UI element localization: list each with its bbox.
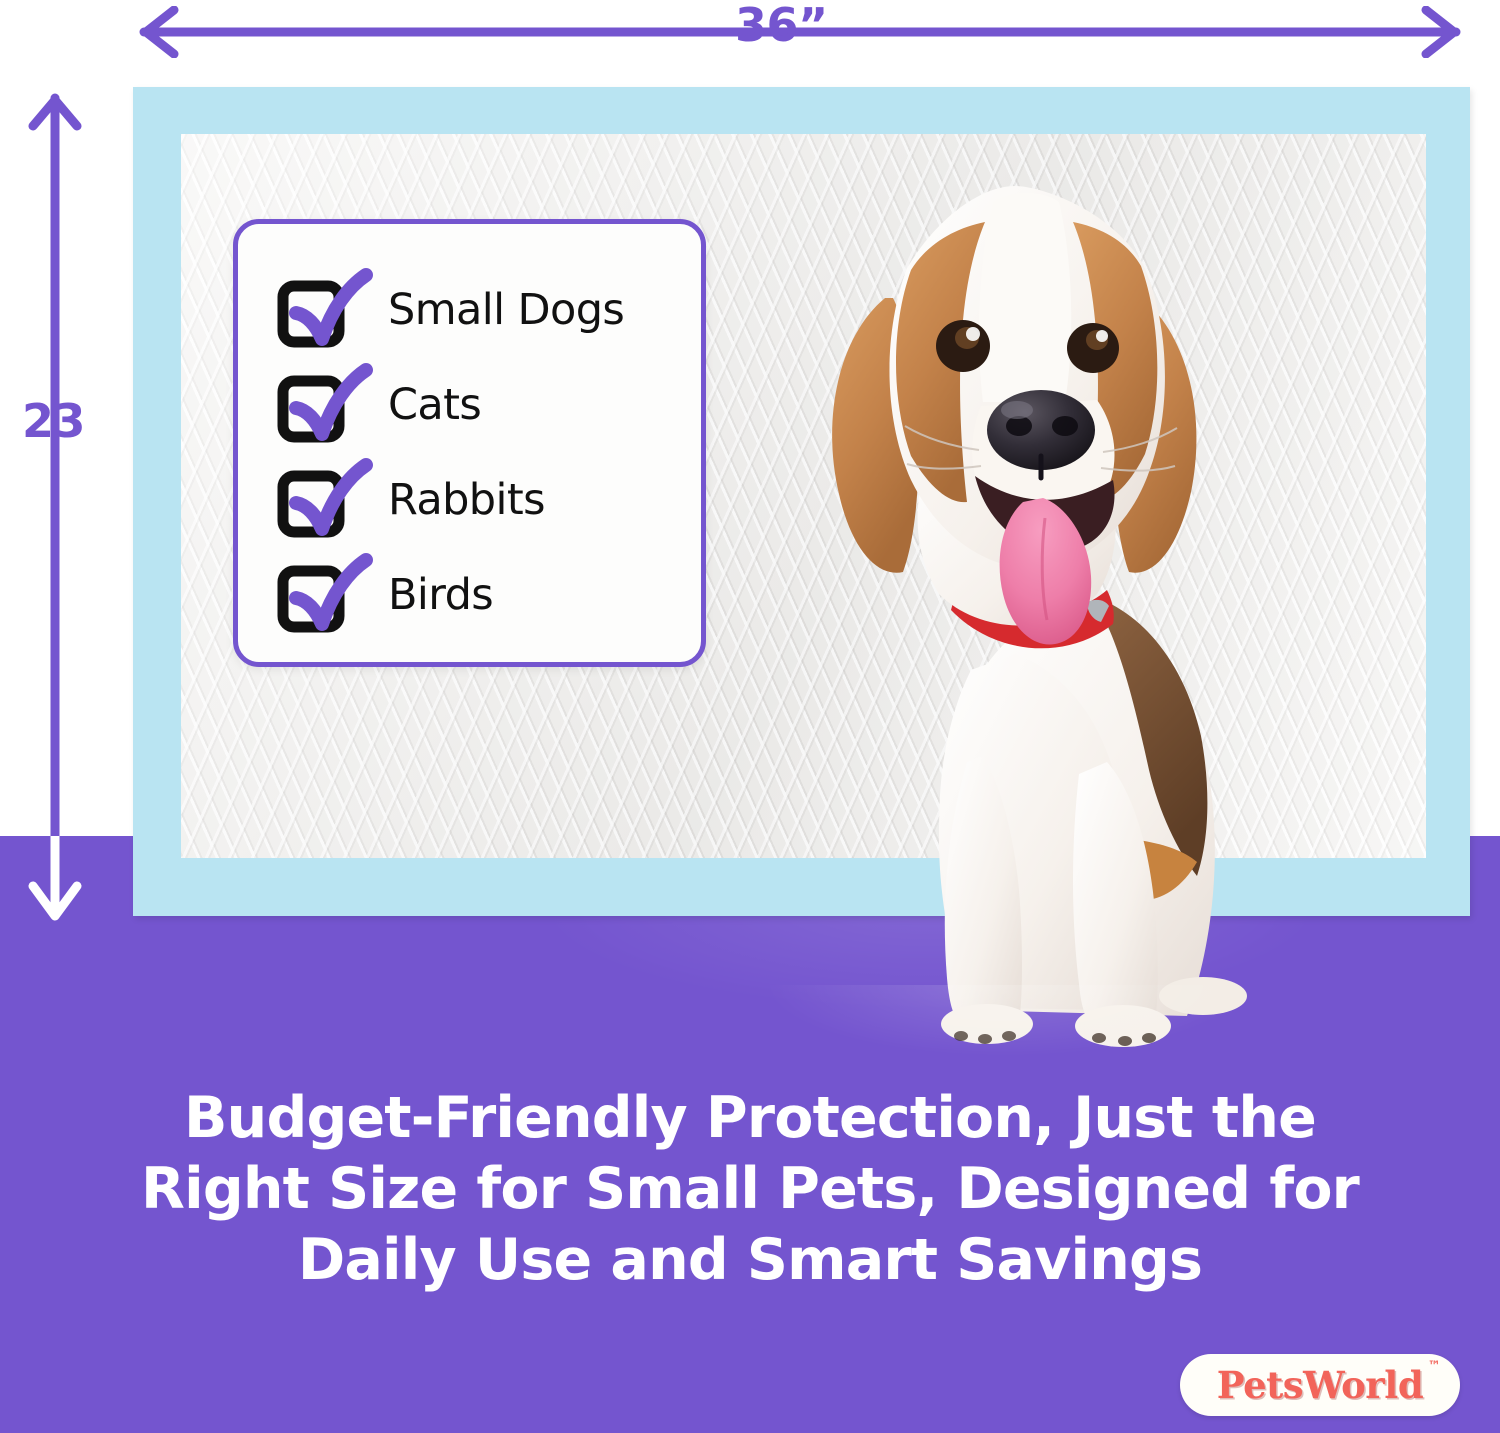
checklist-item: Rabbits (282, 452, 701, 547)
checked-checkbox-icon (282, 471, 344, 529)
petsworld-logo: PetsWorld ™ (1180, 1354, 1460, 1416)
checklist-item: Birds (282, 547, 701, 642)
checked-checkbox-icon (282, 281, 344, 339)
vertical-dimension-arrow-tail (26, 836, 84, 928)
vertical-dimension-arrow (26, 84, 84, 920)
checklist-item-label: Cats (388, 380, 481, 430)
brand-name-text: PetsWorld ™ (1217, 1363, 1423, 1407)
checklist-item: Small Dogs (282, 262, 701, 357)
marketing-headline: Budget-Friendly Protection, Just the Rig… (0, 1083, 1500, 1296)
headline-line-1: Budget-Friendly Protection, Just the (70, 1083, 1430, 1154)
trademark-symbol: ™ (1428, 1359, 1441, 1374)
checklist-item: Cats (282, 357, 701, 452)
checklist-item-label: Small Dogs (388, 285, 624, 335)
headline-line-3: Daily Use and Smart Savings (70, 1225, 1430, 1296)
brand-name: PetsWorld (1217, 1363, 1423, 1407)
suitable-pets-checklist-card: Small Dogs Cats Rabbits (233, 219, 706, 667)
product-infographic: 36” 23 Small Dogs Cats (0, 0, 1500, 1433)
width-dimension-label: 36” (735, 2, 828, 48)
height-dimension-label: 23 (22, 398, 85, 444)
headline-line-2: Right Size for Small Pets, Designed for (70, 1154, 1430, 1225)
checked-checkbox-icon (282, 566, 344, 624)
checklist-item-label: Rabbits (388, 475, 545, 525)
checklist-item-label: Birds (388, 570, 493, 620)
checked-checkbox-icon (282, 376, 344, 434)
